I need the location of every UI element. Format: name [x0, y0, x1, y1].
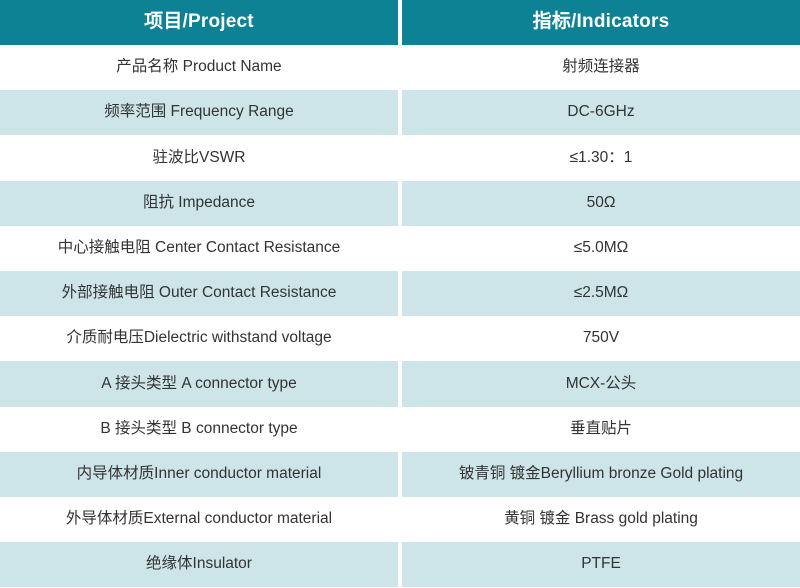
- table-header-row: 项目/Project 指标/Indicators: [0, 0, 800, 45]
- cell-indicator: 黄铜 镀金 Brass gold plating: [402, 497, 800, 542]
- table-row: 中心接触电阻 Center Contact Resistance≤5.0MΩ: [0, 226, 800, 271]
- table-body: 产品名称 Product Name射频连接器频率范围 Frequency Ran…: [0, 45, 800, 587]
- cell-indicator: DC-6GHz: [402, 90, 800, 135]
- cell-project: 驻波比VSWR: [0, 135, 398, 180]
- cell-indicator: 750V: [402, 316, 800, 361]
- table-row: 阻抗 Impedance50Ω: [0, 181, 800, 226]
- cell-project: 产品名称 Product Name: [0, 45, 398, 90]
- column-header-indicators: 指标/Indicators: [402, 0, 800, 45]
- cell-indicator: ≤1.30：1: [402, 135, 800, 180]
- cell-project: 外导体材质External conductor material: [0, 497, 398, 542]
- table-row: 介质耐电压Dielectric withstand voltage750V: [0, 316, 800, 361]
- cell-indicator: MCX-公头: [402, 361, 800, 406]
- table-row: 产品名称 Product Name射频连接器: [0, 45, 800, 90]
- table-row: B 接头类型 B connector type垂直贴片: [0, 407, 800, 452]
- table-row: 绝缘体InsulatorPTFE: [0, 542, 800, 587]
- cell-project: B 接头类型 B connector type: [0, 407, 398, 452]
- cell-project: 中心接触电阻 Center Contact Resistance: [0, 226, 398, 271]
- cell-indicator: 垂直贴片: [402, 407, 800, 452]
- table-row: 频率范围 Frequency RangeDC-6GHz: [0, 90, 800, 135]
- cell-project: A 接头类型 A connector type: [0, 361, 398, 406]
- table-row: 外部接触电阻 Outer Contact Resistance≤2.5MΩ: [0, 271, 800, 316]
- column-header-project: 项目/Project: [0, 0, 398, 45]
- table-row: A 接头类型 A connector typeMCX-公头: [0, 361, 800, 406]
- cell-project: 内导体材质Inner conductor material: [0, 452, 398, 497]
- cell-indicator: 50Ω: [402, 181, 800, 226]
- cell-indicator: 射频连接器: [402, 45, 800, 90]
- cell-indicator: 铍青铜 镀金Beryllium bronze Gold plating: [402, 452, 800, 497]
- cell-indicator: ≤2.5MΩ: [402, 271, 800, 316]
- cell-indicator: ≤5.0MΩ: [402, 226, 800, 271]
- table-row: 驻波比VSWR≤1.30：1: [0, 135, 800, 180]
- table-row: 内导体材质Inner conductor material铍青铜 镀金Beryl…: [0, 452, 800, 497]
- cell-project: 绝缘体Insulator: [0, 542, 398, 587]
- cell-project: 外部接触电阻 Outer Contact Resistance: [0, 271, 398, 316]
- cell-project: 阻抗 Impedance: [0, 181, 398, 226]
- cell-project: 介质耐电压Dielectric withstand voltage: [0, 316, 398, 361]
- cell-indicator: PTFE: [402, 542, 800, 587]
- table-row: 外导体材质External conductor material黄铜 镀金 Br…: [0, 497, 800, 542]
- cell-project: 频率范围 Frequency Range: [0, 90, 398, 135]
- product-specification-table: 项目/Project 指标/Indicators 产品名称 Product Na…: [0, 0, 800, 588]
